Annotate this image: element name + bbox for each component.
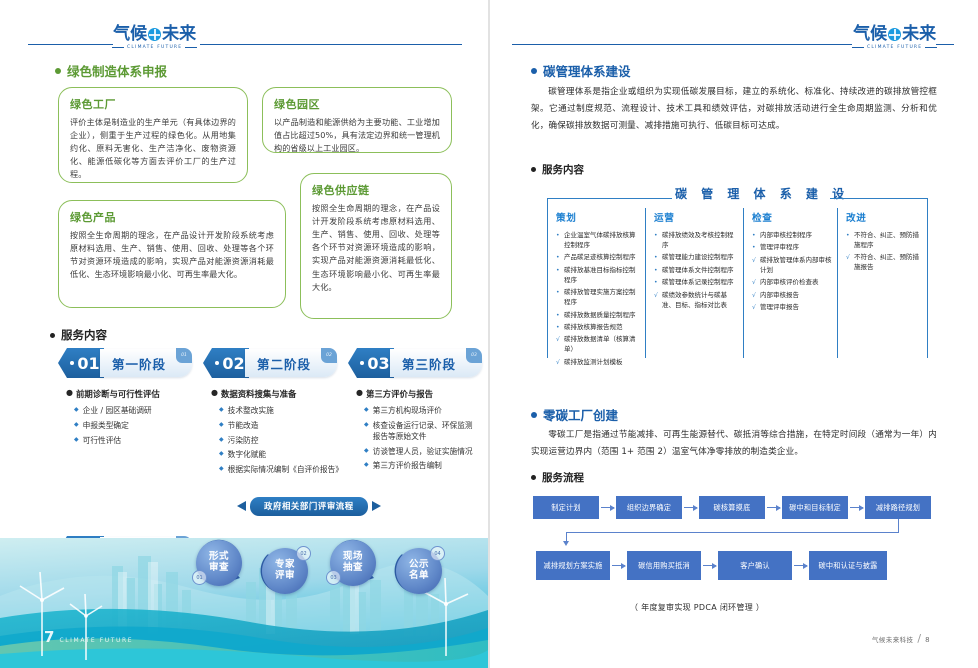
right-service-heading-1: 服务内容: [531, 162, 584, 177]
flow-box-r2-c4[interactable]: 碳中和认证与披露: [809, 551, 887, 580]
diamond-icon: ◆: [74, 435, 79, 445]
phase-sub-item: ◆第三方评价报告编制: [348, 460, 480, 471]
phase-ribbon: 第一阶段 01: [100, 349, 192, 377]
phase-sub-item: ◆申报类型确定: [58, 420, 196, 431]
bullet-icon: [55, 68, 61, 74]
gov-review-label: 政府相关部门评审流程: [250, 497, 368, 516]
flow-arrow-r2-2: [703, 565, 716, 566]
flow-box-r2-c2[interactable]: 碳信用购买抵消: [627, 551, 701, 580]
step-number: 04: [430, 546, 445, 561]
item-text: 碳管理体系文件控制程序: [662, 266, 736, 276]
right-header-rule: [512, 44, 852, 45]
right-heading-carbon-mgmt: 碳管理体系建设: [531, 61, 631, 80]
list-item: √碳排放监测计划模板: [556, 358, 640, 368]
left-heading-text: 绿色制造体系申报: [67, 61, 167, 80]
item-marker: •: [654, 253, 659, 263]
diamond-icon: ◆: [364, 420, 369, 430]
list-item: √碳排放管理体系内部审核计划: [752, 256, 832, 276]
item-marker: •: [556, 266, 561, 276]
diamond-icon: ◆: [364, 405, 369, 415]
right-header-rule-2: [936, 44, 954, 45]
right-paragraph-2: 零碳工厂是指通过节能减排、可再生能源替代、碳抵消等综合措施，在特定时间段（通常为…: [531, 427, 937, 461]
list-item: •碳排放核算报告规范: [556, 323, 640, 333]
list-item: √内部审核报告: [752, 291, 832, 301]
brand-logo-text: 气候未来: [853, 26, 936, 43]
item-text: 不符合、纠正、预防措施程序: [854, 231, 920, 251]
phase-number-tag: 01: [58, 348, 104, 378]
phase-main-item: ●前期诊断与可行性评估: [58, 388, 196, 400]
item-text: 管理评审程序: [760, 243, 832, 253]
list-item: √碳绩效参数统计与碳基准、目标、指标对比表: [654, 291, 736, 311]
brand-name-right: 未来: [902, 24, 936, 44]
tag-dot-icon: [360, 361, 364, 365]
column-header: 运营: [654, 210, 736, 224]
phase-sub-text: 申报类型确定: [83, 420, 196, 431]
list-item: •碳排放绩效及考核控制程序: [654, 231, 736, 251]
phase-ribbon: 第二阶段 02: [245, 349, 337, 377]
column-item-list: •不符合、纠正、预防措施程序 √不符合、纠正、预防措施报告: [846, 231, 920, 273]
item-marker: •: [654, 278, 659, 288]
phase-main-text: 数据资料搜集与准备: [221, 388, 296, 400]
step-line-2: 审查: [209, 563, 229, 574]
phase-corner-number: 02: [321, 348, 337, 363]
item-marker: •: [556, 311, 561, 321]
phase-sub-text: 访谈管理人员，验证实施情况: [373, 446, 480, 457]
item-text: 产品碳足迹核算控制程序: [564, 253, 640, 263]
diamond-icon: ◆: [219, 405, 224, 415]
right-heading-1-text: 碳管理体系建设: [543, 61, 631, 80]
step-line-2: 评审: [275, 571, 295, 582]
phase-sub-text: 节能改造: [228, 420, 341, 431]
green-card-title: 绿色供应链: [312, 182, 440, 198]
item-text: 企业温室气体碳排放核算控制程序: [564, 231, 640, 251]
phase-sub-item: ◆技术整改实施: [203, 405, 341, 416]
phase-sub-item: ◆核查设备运行记录、环保监测报告等原始文件: [348, 420, 480, 442]
diamond-icon: ◆: [219, 420, 224, 430]
bullet-icon: [531, 412, 537, 418]
item-text: 碳绩效参数统计与碳基准、目标、指标对比表: [662, 291, 736, 311]
bullet-icon: ●: [66, 388, 73, 398]
item-marker: √: [556, 358, 561, 368]
list-item: •不符合、纠正、预防措施程序: [846, 231, 920, 251]
green-card-title: 绿色工厂: [70, 96, 236, 112]
item-marker: √: [846, 253, 851, 263]
brand-tagline-wrap: CLIMATE FUTURE: [112, 45, 197, 50]
left-header-rule: [28, 44, 113, 45]
globe-icon: [148, 28, 161, 41]
table-frame-left: [547, 198, 548, 358]
item-text: 不符合、纠正、预防措施报告: [854, 253, 920, 273]
list-item: •产品碳足迹核算控制程序: [556, 253, 640, 263]
list-item: •企业温室气体碳排放核算控制程序: [556, 231, 640, 251]
item-text: 内部审核控制程序: [760, 231, 832, 241]
left-footer: 7 CLIMATE FUTURE: [44, 628, 133, 646]
table-column-inspection: 检查 •内部审核控制程序 •管理评审程序 √碳排放管理体系内部审核计划 √内部审…: [752, 210, 832, 316]
item-marker: •: [752, 243, 757, 253]
green-card-title: 绿色园区: [274, 96, 440, 112]
diamond-icon: ◆: [219, 449, 224, 459]
item-marker: •: [556, 231, 561, 241]
flow-wrap-horizontal: [566, 532, 899, 533]
phase-card-01[interactable]: 01 第一阶段 01 ●前期诊断与可行性评估 ◆企业 / 园区基础调研 ◆申报类…: [58, 348, 196, 449]
phase-sub-item: ◆数字化赋能: [203, 449, 341, 460]
list-item: •碳排放基准目标指标控制程序: [556, 266, 640, 286]
diamond-icon: ◆: [74, 405, 79, 415]
step-line-2: 抽查: [343, 563, 363, 574]
right-paragraph-1: 碳管理体系是指企业或组织为实现低碳发展目标，建立的系统化、标准化、持续改进的碳排…: [531, 84, 937, 134]
bullet-icon: ●: [356, 388, 363, 398]
review-step-01[interactable]: 形式 审查 01: [196, 540, 242, 586]
flow-arrow-r2-3: [794, 565, 807, 566]
arrow-left-icon: [237, 501, 246, 511]
tag-dot-icon: [70, 361, 74, 365]
right-heading-zero-carbon: 零碳工厂创建: [531, 405, 618, 424]
table-top-rule-left: [547, 198, 672, 199]
green-card-body: 以产品制造和能源供给为主要功能、工业增加值占比超过50%，具有法定边界和统一管理…: [274, 116, 440, 155]
item-marker: √: [556, 335, 561, 345]
phase-number-tag: 02: [203, 348, 249, 378]
right-page-number: 8: [925, 636, 929, 644]
phase-sub-text: 核查设备运行记录、环保监测报告等原始文件: [373, 420, 480, 442]
bullet-icon: [531, 475, 536, 480]
phase-ribbon: 第三阶段 03: [390, 349, 482, 377]
diamond-icon: ◆: [219, 435, 224, 445]
list-item: √内部审核评价检查表: [752, 278, 832, 288]
left-service-heading-text: 服务内容: [61, 327, 107, 343]
list-item: •碳管理能力建设控制程序: [654, 253, 736, 263]
phase-main-text: 第三方评价与报告: [366, 388, 433, 400]
phase-number-tag: 03: [348, 348, 394, 378]
item-text: 碳排放管理实施方案控制程序: [564, 288, 640, 308]
phase-sub-text: 根据实际情况编制《自评价报告》: [228, 464, 341, 475]
phase-name: 第二阶段: [257, 354, 311, 373]
right-footer-separator: /: [917, 632, 921, 645]
brand-name-right: 未来: [162, 24, 196, 44]
item-marker: √: [752, 291, 757, 301]
flow-arrow-r1-1: [601, 507, 614, 508]
column-header: 改进: [846, 210, 920, 224]
tagline-dash-left: [112, 47, 124, 48]
right-service-heading-1-text: 服务内容: [542, 162, 584, 177]
item-text: 碳排放数据质量控制程序: [564, 311, 640, 321]
list-item: •碳排放数据质量控制程序: [556, 311, 640, 321]
step-number: 02: [296, 546, 311, 561]
diamond-icon: ◆: [364, 446, 369, 456]
column-item-list: •碳排放绩效及考核控制程序 •碳管理能力建设控制程序 •碳管理体系文件控制程序 …: [654, 231, 736, 311]
item-marker: •: [556, 323, 561, 333]
table-column-improvement: 改进 •不符合、纠正、预防措施程序 √不符合、纠正、预防措施报告: [846, 210, 920, 276]
phase-main-text: 前期诊断与可行性评估: [76, 388, 160, 400]
right-flow-heading-text: 服务流程: [542, 470, 584, 485]
phase-sub-item: ◆访谈管理人员，验证实施情况: [348, 446, 480, 457]
item-marker: √: [752, 256, 757, 266]
phase-main-item: ●数据资料搜集与准备: [203, 388, 341, 400]
list-item: √不符合、纠正、预防措施报告: [846, 253, 920, 273]
brand-name-left: 气候: [853, 24, 887, 44]
phase-number: 03: [367, 354, 389, 373]
flow-wrap-arrow-down-icon: [563, 541, 569, 546]
brand-logo-left: 气候未来 CLIMATE FUTURE: [112, 26, 197, 50]
flow-wrap-vertical-right: [898, 519, 899, 532]
review-step-03[interactable]: 现场 抽查 03: [330, 540, 376, 586]
column-item-list: •内部审核控制程序 •管理评审程序 √碳排放管理体系内部审核计划 √内部审核评价…: [752, 231, 832, 313]
flow-arrow-r2-1: [612, 565, 625, 566]
item-marker: •: [556, 288, 561, 298]
item-marker: •: [846, 231, 851, 241]
bullet-icon: [531, 167, 536, 172]
green-card-factory: 绿色工厂 评价主体是制造业的生产单元（有具体边界的企业），侧重于生产过程的绿色化…: [58, 87, 248, 183]
brand-tagline: CLIMATE FUTURE: [867, 45, 922, 50]
list-item: √管理评审报告: [752, 303, 832, 313]
table-column-operation: 运营 •碳排放绩效及考核控制程序 •碳管理能力建设控制程序 •碳管理体系文件控制…: [654, 210, 736, 313]
item-text: 碳排放基准目标指标控制程序: [564, 266, 640, 286]
phase-body: ●前期诊断与可行性评估 ◆企业 / 园区基础调研 ◆申报类型确定 ◆可行性评估: [58, 388, 196, 446]
phase-header: 01 第一阶段 01: [58, 348, 196, 378]
phase-sub-item: ◆污染防控: [203, 435, 341, 446]
tagline-dash-left: [852, 47, 864, 48]
flow-box-r1-c4[interactable]: 碳中和目标制定: [782, 496, 848, 519]
list-item: •碳管理体系文件控制程序: [654, 266, 736, 276]
step-number: 01: [192, 570, 207, 585]
item-text: 内部审核报告: [760, 291, 832, 301]
list-item: •内部审核控制程序: [752, 231, 832, 241]
phase-name: 第一阶段: [112, 354, 166, 373]
item-text: 碳排放管理体系内部审核计划: [760, 256, 832, 276]
item-text: 碳排放数据清单（核算清单）: [564, 335, 640, 355]
phase-number: 02: [222, 354, 244, 373]
table-top-rule-right: [830, 198, 928, 199]
green-card-body: 按照全生命周期的理念，在产品设计开发阶段系统考虑原材料选用、生产、销售、使用、回…: [70, 229, 274, 281]
phase-sub-item: ◆可行性评估: [58, 435, 196, 446]
item-text: 内部审核评价检查表: [760, 278, 832, 288]
phase-main-item: ●第三方评价与报告: [348, 388, 480, 400]
phase-card-02[interactable]: 02 第二阶段 02 ●数据资料搜集与准备 ◆技术整改实施 ◆节能改造 ◆污染防…: [203, 348, 341, 479]
item-marker: √: [654, 291, 659, 301]
table-title: 碳 管 理 体 系 建 设: [675, 185, 849, 202]
right-heading-2-text: 零碳工厂创建: [543, 405, 618, 424]
list-item: •管理评审程序: [752, 243, 832, 253]
brand-tagline-wrap: CLIMATE FUTURE: [852, 45, 937, 50]
step-number: 03: [326, 570, 341, 585]
phase-sub-text: 第三方机构现场评价: [373, 405, 480, 416]
item-marker: •: [654, 231, 659, 241]
left-page-number: 7: [44, 628, 54, 646]
arrow-right-icon: [372, 501, 381, 511]
document-spread: 气候未来 CLIMATE FUTURE 绿色制造体系申报 绿色工厂 评价主体是制…: [0, 0, 978, 668]
diamond-icon: ◆: [219, 464, 224, 474]
green-card-product: 绿色产品 按照全生命周期的理念，在产品设计开发阶段系统考虑原材料选用、生产、销售…: [58, 200, 286, 308]
tag-dot-icon: [215, 361, 219, 365]
table-col-sep-2: [743, 208, 744, 358]
left-service-heading: 服务内容: [50, 327, 107, 343]
table-col-sep-1: [645, 208, 646, 358]
item-text: 碳排放监测计划模板: [564, 358, 640, 368]
item-text: 碳排放核算报告规范: [564, 323, 640, 333]
column-item-list: •企业温室气体碳排放核算控制程序 •产品碳足迹核算控制程序 •碳排放基准目标指标…: [556, 231, 640, 368]
phase-corner-number: 01: [176, 348, 192, 363]
bullet-icon: [531, 68, 537, 74]
bullet-icon: ●: [211, 388, 218, 398]
left-section-heading: 绿色制造体系申报: [55, 61, 167, 80]
item-text: 管理评审报告: [760, 303, 832, 313]
phase-sub-item: ◆第三方机构现场评价: [348, 405, 480, 416]
item-marker: •: [752, 231, 757, 241]
left-footer-tagline: CLIMATE FUTURE: [59, 637, 133, 646]
flow-box-r1-c1[interactable]: 制定计划: [533, 496, 599, 519]
phase-sub-item: ◆企业 / 园区基础调研: [58, 405, 196, 416]
table-col-sep-3: [837, 208, 838, 358]
green-card-body: 评价主体是制造业的生产单元（有具体边界的企业），侧重于生产过程的绿色化。从用地集…: [70, 116, 236, 182]
green-card-title: 绿色产品: [70, 209, 274, 225]
item-text: 碳管理能力建设控制程序: [662, 253, 736, 263]
green-card-body: 按照全生命周期的理念，在产品设计开发阶段系统考虑原材料选用、生产、销售、使用、回…: [312, 202, 440, 294]
flow-arrow-r1-4: [850, 507, 863, 508]
phase-sub-item: ◆根据实际情况编制《自评价报告》: [203, 464, 341, 475]
phase-sub-text: 第三方评价报告编制: [373, 460, 480, 471]
phase-sub-text: 技术整改实施: [228, 405, 341, 416]
globe-icon: [888, 28, 901, 41]
item-text: 碳管理体系记录控制程序: [662, 278, 736, 288]
green-card-supply-chain: 绿色供应链 按照全生命周期的理念，在产品设计开发阶段系统考虑原材料选用、生产、销…: [300, 173, 452, 319]
left-header-rule-2: [200, 44, 462, 45]
right-flow-heading: 服务流程: [531, 470, 584, 485]
flow-box-r1-c2[interactable]: 组织边界确定: [616, 496, 682, 519]
item-marker: •: [556, 253, 561, 263]
diamond-icon: ◆: [364, 460, 369, 470]
flow-note: （ 年度复审实现 PDCA 闭环管理 ）: [630, 602, 764, 613]
gov-review-flow-bar: 政府相关部门评审流程: [237, 497, 381, 516]
phase-sub-text: 可行性评估: [83, 435, 196, 446]
flow-arrow-r1-3: [767, 507, 780, 508]
flow-box-r2-c1[interactable]: 减排规划方案实施: [536, 551, 610, 580]
item-marker: •: [654, 266, 659, 276]
tagline-dash-right: [925, 47, 937, 48]
phase-sub-text: 企业 / 园区基础调研: [83, 405, 196, 416]
flow-arrow-r1-2: [684, 507, 697, 508]
table-frame-right: [927, 198, 928, 358]
phase-header: 02 第二阶段 02: [203, 348, 341, 378]
list-item: √碳排放数据清单（核算清单）: [556, 335, 640, 355]
item-text: 碳排放绩效及考核控制程序: [662, 231, 736, 251]
right-footer: 气候未来科技 / 8: [872, 632, 930, 645]
diamond-icon: ◆: [74, 420, 79, 430]
step-line-2: 名单: [409, 571, 429, 582]
flow-box-r1-c3[interactable]: 碳核算摸底: [699, 496, 765, 519]
flow-box-r2-c3[interactable]: 客户确认: [718, 551, 792, 580]
phase-name: 第三阶段: [402, 354, 456, 373]
item-marker: √: [752, 278, 757, 288]
column-header: 策划: [556, 210, 640, 224]
bullet-icon: [50, 333, 55, 338]
item-marker: √: [752, 303, 757, 313]
list-item: •碳排放管理实施方案控制程序: [556, 288, 640, 308]
phase-sub-item: ◆节能改造: [203, 420, 341, 431]
phase-header: 03 第三阶段 03: [348, 348, 480, 378]
table-column-planning: 策划 •企业温室气体碳排放核算控制程序 •产品碳足迹核算控制程序 •碳排放基准目…: [556, 210, 640, 370]
list-item: •碳管理体系记录控制程序: [654, 278, 736, 288]
flow-box-r1-c5[interactable]: 减排路径规划: [865, 496, 931, 519]
brand-logo-text: 气候未来: [113, 26, 196, 43]
right-page: 气候未来 CLIMATE FUTURE 碳管理体系建设 碳管理体系是指企业或组织…: [490, 0, 978, 668]
brand-name-left: 气候: [113, 24, 147, 44]
column-header: 检查: [752, 210, 832, 224]
tagline-dash-right: [185, 47, 197, 48]
phase-body: ●数据资料搜集与准备 ◆技术整改实施 ◆节能改造 ◆污染防控 ◆数字化赋能 ◆根…: [203, 388, 341, 475]
review-step-04[interactable]: 公示 名单 04: [396, 548, 442, 594]
phase-card-03[interactable]: 03 第三阶段 03 ●第三方评价与报告 ◆第三方机构现场评价 ◆核查设备运行记…: [348, 348, 480, 475]
left-page: 气候未来 CLIMATE FUTURE 绿色制造体系申报 绿色工厂 评价主体是制…: [0, 0, 488, 668]
phase-number: 01: [77, 354, 99, 373]
review-step-02[interactable]: 专家 评审 02: [262, 548, 308, 594]
green-card-park: 绿色园区 以产品制造和能源供给为主要功能、工业增加值占比超过50%，具有法定边界…: [262, 87, 452, 153]
phase-sub-text: 污染防控: [228, 435, 341, 446]
phase-body: ●第三方评价与报告 ◆第三方机构现场评价 ◆核查设备运行记录、环保监测报告等原始…: [348, 388, 480, 472]
phase-corner-number: 03: [466, 348, 482, 363]
brand-logo-right: 气候未来 CLIMATE FUTURE: [852, 26, 937, 50]
right-footer-brand: 气候未来科技: [872, 634, 913, 644]
brand-tagline: CLIMATE FUTURE: [127, 45, 182, 50]
phase-sub-text: 数字化赋能: [228, 449, 341, 460]
